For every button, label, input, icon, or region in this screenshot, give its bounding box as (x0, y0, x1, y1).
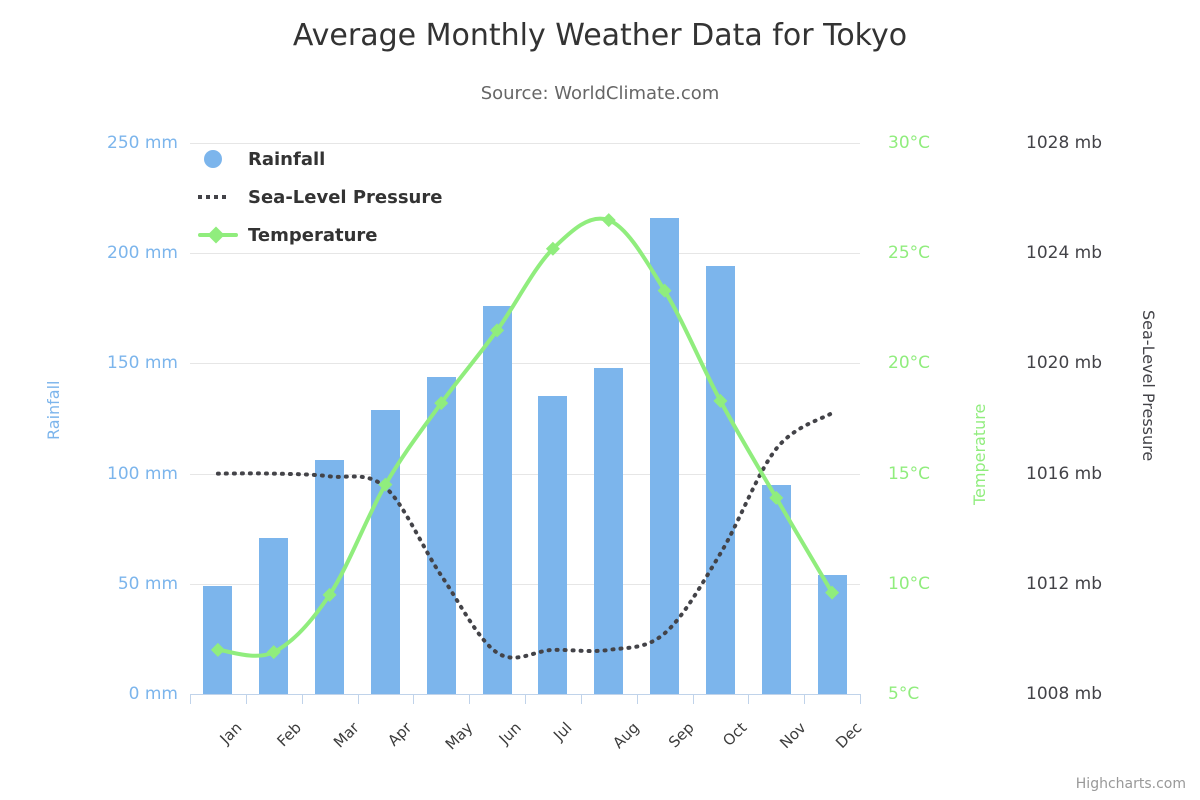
temperature-spline (218, 219, 832, 656)
axis-tick-label: 1028 mb (1026, 133, 1136, 153)
xaxis-label: Apr (385, 719, 416, 750)
temperature-marker[interactable] (211, 643, 225, 657)
xaxis-tick (860, 694, 861, 704)
axis-tick-label: 1020 mb (1026, 353, 1136, 373)
circle-marker-icon (196, 149, 242, 169)
chart-legend: Rainfall Sea-Level Pressure Temperature (196, 140, 442, 254)
chart-title: Average Monthly Weather Data for Tokyo (0, 18, 1200, 53)
temperature-marker[interactable] (602, 213, 616, 227)
axis-tick-label: 5°C (888, 684, 978, 704)
axis-tick-label: 100 mm (68, 464, 178, 484)
xaxis-tick (748, 694, 749, 704)
legend-item-temperature[interactable]: Temperature (196, 216, 442, 254)
axis-tick-label: 10°C (888, 574, 978, 594)
diamond-line-icon (196, 225, 242, 245)
axis-tick-label: 25°C (888, 243, 978, 263)
legend-label: Sea-Level Pressure (248, 187, 442, 208)
axis-tick-label: 200 mm (68, 243, 178, 263)
legend-label: Rainfall (248, 149, 325, 170)
xaxis-tick (581, 694, 582, 704)
legend-label: Temperature (248, 225, 377, 246)
xaxis-label: Nov (776, 719, 809, 752)
axis-tick-label: 1008 mb (1026, 684, 1136, 704)
xaxis-tick (525, 694, 526, 704)
axis-tick-label: 1024 mb (1026, 243, 1136, 263)
dotted-line-icon (196, 187, 242, 207)
xaxis-label: Jul (550, 719, 576, 745)
legend-item-sea-level-pressure[interactable]: Sea-Level Pressure (196, 178, 442, 216)
axis-tick-label: 50 mm (68, 574, 178, 594)
axis-tick-label: 250 mm (68, 133, 178, 153)
xaxis-tick (246, 694, 247, 704)
axis-tick-label: 20°C (888, 353, 978, 373)
axis-tick-label: 150 mm (68, 353, 178, 373)
xaxis-label: Aug (609, 719, 642, 752)
yaxis-title-pressure: Sea-Level Pressure (1139, 310, 1158, 461)
yaxis-title-temperature: Temperature (970, 404, 989, 505)
xaxis-label: Oct (720, 719, 751, 750)
xaxis-tick (413, 694, 414, 704)
axis-tick-label: 1012 mb (1026, 574, 1136, 594)
xaxis-tick (302, 694, 303, 704)
axis-tick-label: 15°C (888, 464, 978, 484)
legend-item-rainfall[interactable]: Rainfall (196, 140, 442, 178)
xaxis-tick (469, 694, 470, 704)
xaxis-tick (190, 694, 191, 704)
credits: Highcharts.com (1076, 776, 1186, 792)
xaxis-label: Dec (832, 719, 865, 752)
xaxis-label: Jun (496, 719, 525, 748)
axis-tick-label: 1016 mb (1026, 464, 1136, 484)
axis-tick-label: 0 mm (68, 684, 178, 704)
xaxis-label: Jan (216, 719, 245, 748)
chart-subtitle: Source: WorldClimate.com (0, 83, 1200, 104)
xaxis-label: Feb (273, 719, 305, 751)
xaxis-tick (637, 694, 638, 704)
xaxis-label: Mar (330, 719, 363, 752)
xaxis-label: Sep (664, 719, 697, 752)
xaxis-tick (804, 694, 805, 704)
xaxis-tick (358, 694, 359, 704)
weather-chart: Average Monthly Weather Data for Tokyo S… (0, 0, 1200, 800)
yaxis-title-rainfall: Rainfall (44, 381, 63, 440)
xaxis-tick (693, 694, 694, 704)
xaxis-label: May (442, 719, 477, 754)
axis-tick-label: 30°C (888, 133, 978, 153)
